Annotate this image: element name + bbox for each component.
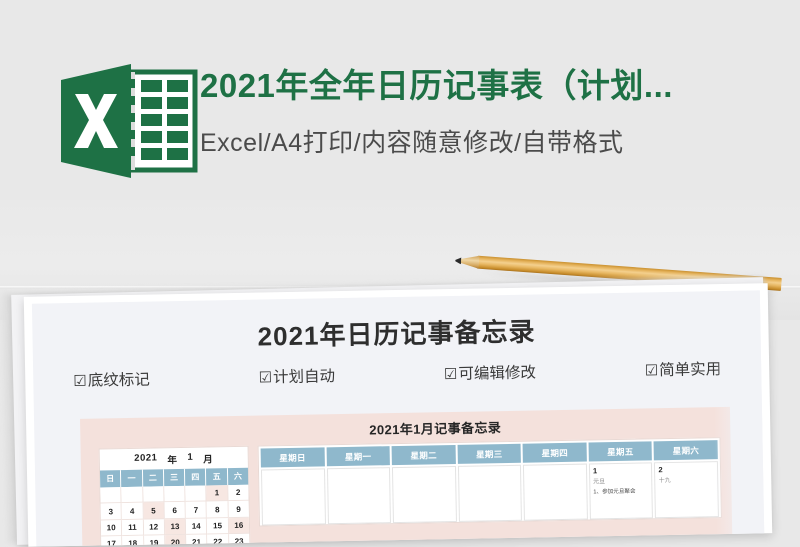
mini-calendar-day[interactable]: 10 xyxy=(101,520,123,537)
memo-cell-lunar xyxy=(265,481,321,488)
calendar-body: 2021 年 1 月 日 一 二 三 四 五 六 1234567 xyxy=(81,437,733,547)
feature-label: 简单实用 xyxy=(659,361,721,379)
mini-weekday: 一 xyxy=(121,470,143,487)
memo-table-header-cell: 星期四 xyxy=(523,443,587,463)
memo-cell-day-number xyxy=(265,471,321,481)
title-block: 2021年全年日历记事表（计划... Excel/A4打印/内容随意修改/自带格… xyxy=(200,64,800,160)
memo-table-cell[interactable] xyxy=(392,466,457,523)
memo-cell-day-number xyxy=(527,467,583,477)
mini-calendar-day[interactable]: 1 xyxy=(207,485,229,502)
memo-cell-lunar: 元旦 xyxy=(593,475,649,485)
memo-table-cell[interactable]: 1元旦1、参加元旦聚会 xyxy=(589,462,654,519)
memo-table-header-cell: 星期二 xyxy=(392,445,456,465)
mini-calendar-day[interactable]: 12 xyxy=(143,519,165,536)
mini-calendar-day[interactable]: 11 xyxy=(122,519,144,536)
excel-logo xyxy=(57,62,199,180)
mini-calendar[interactable]: 2021 年 1 月 日 一 二 三 四 五 六 1234567 xyxy=(99,446,251,547)
mini-calendar-year-unit: 年 xyxy=(167,452,177,466)
memo-cell-day-number xyxy=(396,469,452,479)
checkbox-checked-icon: ☑ xyxy=(73,373,87,390)
mini-weekday: 四 xyxy=(185,469,207,486)
memo-cell-note xyxy=(397,489,453,490)
memo-cell-note xyxy=(528,487,584,488)
mini-calendar-day[interactable]: 4 xyxy=(122,503,144,520)
checkbox-checked-icon: ☑ xyxy=(444,366,458,383)
mini-calendar-day[interactable] xyxy=(185,486,207,503)
memo-table-header-cell: 星期一 xyxy=(326,446,390,466)
memo-cell-lunar xyxy=(331,480,387,487)
memo-table[interactable]: 星期日 星期一 星期二 星期三 星期四 星期五 星期六 1元旦1、参加元旦聚会2… xyxy=(258,437,722,526)
page-title: 2021年全年日历记事表（计划... xyxy=(200,64,800,108)
memo-table-cell[interactable] xyxy=(523,464,588,521)
mini-calendar-day[interactable]: 9 xyxy=(228,501,249,518)
mini-weekday: 五 xyxy=(206,468,228,485)
mini-calendar-day[interactable]: 13 xyxy=(165,519,187,536)
feature-item-0: ☑底纹标记 xyxy=(73,368,150,391)
checkbox-checked-icon: ☑ xyxy=(645,362,659,379)
mini-calendar-day[interactable]: 22 xyxy=(208,534,230,547)
mini-calendar-day[interactable]: 15 xyxy=(207,518,229,535)
page-subtitle: Excel/A4打印/内容随意修改/自带格式 xyxy=(200,126,800,160)
feature-label: 底纹标记 xyxy=(88,372,150,390)
memo-cell-lunar: 十九 xyxy=(659,474,715,484)
feature-item-3: ☑简单实用 xyxy=(645,357,722,380)
mini-calendar-month: 1 xyxy=(187,452,193,466)
checkbox-checked-icon: ☑ xyxy=(258,369,272,386)
mini-calendar-day[interactable]: 17 xyxy=(101,536,123,547)
pencil-tip xyxy=(455,257,461,264)
pencil-cone xyxy=(459,254,480,268)
memo-cell-lunar xyxy=(396,479,452,486)
mini-calendar-day[interactable] xyxy=(100,487,122,504)
memo-cell-day-number xyxy=(462,468,518,478)
mini-calendar-day[interactable] xyxy=(164,486,186,503)
memo-cell-note xyxy=(462,488,518,489)
mini-calendar-day[interactable]: 7 xyxy=(186,502,208,519)
mini-calendar-day[interactable]: 2 xyxy=(228,485,249,502)
mini-weekday: 日 xyxy=(100,470,122,487)
document-preview[interactable]: 2021年日历记事备忘录 ☑底纹标记 ☑计划自动 ☑可编辑修改 ☑简单实用 20… xyxy=(24,283,772,547)
memo-cell-day-number xyxy=(331,470,387,480)
mini-calendar-day[interactable] xyxy=(143,486,165,503)
mini-calendar-header: 2021 年 1 月 xyxy=(100,447,248,471)
mini-calendar-day[interactable]: 5 xyxy=(143,503,165,520)
feature-label: 可编辑修改 xyxy=(458,364,536,382)
feature-item-1: ☑计划自动 xyxy=(258,364,335,387)
feature-item-2: ☑可编辑修改 xyxy=(444,360,536,384)
memo-cell-lunar xyxy=(462,478,518,485)
memo-table-header-cell: 星期日 xyxy=(261,447,325,467)
mini-calendar-day[interactable]: 6 xyxy=(164,502,186,519)
mini-calendar-day[interactable]: 20 xyxy=(165,535,187,547)
memo-cell-day-number: 1 xyxy=(593,465,649,475)
mini-calendar-day[interactable]: 19 xyxy=(144,535,166,546)
memo-table-cell[interactable]: 2十九 xyxy=(654,461,719,518)
memo-cell-note: 1、参加元旦聚会 xyxy=(593,488,649,496)
document-page: 2021年日历记事备忘录 ☑底纹标记 ☑计划自动 ☑可编辑修改 ☑简单实用 20… xyxy=(32,290,764,546)
mini-calendar-day[interactable]: 23 xyxy=(229,534,250,547)
mini-weekday: 六 xyxy=(228,468,249,485)
memo-table-header-cell: 星期三 xyxy=(457,444,521,464)
mini-calendar-year: 2021 xyxy=(134,452,157,466)
memo-table-cell[interactable] xyxy=(458,465,523,522)
memo-cell-note xyxy=(265,491,321,492)
memo-cell-note xyxy=(659,487,715,488)
memo-table-header-cell: 星期五 xyxy=(588,441,652,461)
mini-calendar-day[interactable]: 21 xyxy=(186,535,208,547)
mini-weekday: 三 xyxy=(164,469,186,486)
memo-cell-day-number: 2 xyxy=(658,464,714,474)
excel-logo-svg xyxy=(57,62,199,180)
mini-calendar-week: 17181920212223 xyxy=(101,534,249,547)
memo-cell-note xyxy=(331,490,387,491)
feature-label: 计划自动 xyxy=(273,368,335,386)
memo-cell-lunar xyxy=(527,477,583,484)
memo-table-header-cell: 星期六 xyxy=(654,440,718,460)
memo-table-row: 1元旦1、参加元旦聚会2十九 xyxy=(259,461,721,525)
mini-calendar-month-unit: 月 xyxy=(203,451,213,465)
mini-calendar-day[interactable]: 14 xyxy=(186,518,208,535)
mini-calendar-day[interactable]: 3 xyxy=(101,503,123,520)
mini-weekday: 二 xyxy=(143,469,165,486)
mini-calendar-weeks: 1234567891011121314151617181920212223 xyxy=(100,485,249,547)
mini-calendar-day[interactable]: 18 xyxy=(122,536,144,547)
mini-calendar-day[interactable]: 8 xyxy=(207,502,229,519)
mini-calendar-day[interactable] xyxy=(122,487,144,504)
memo-table-cell[interactable] xyxy=(327,467,392,524)
memo-table-cell[interactable] xyxy=(261,468,326,525)
